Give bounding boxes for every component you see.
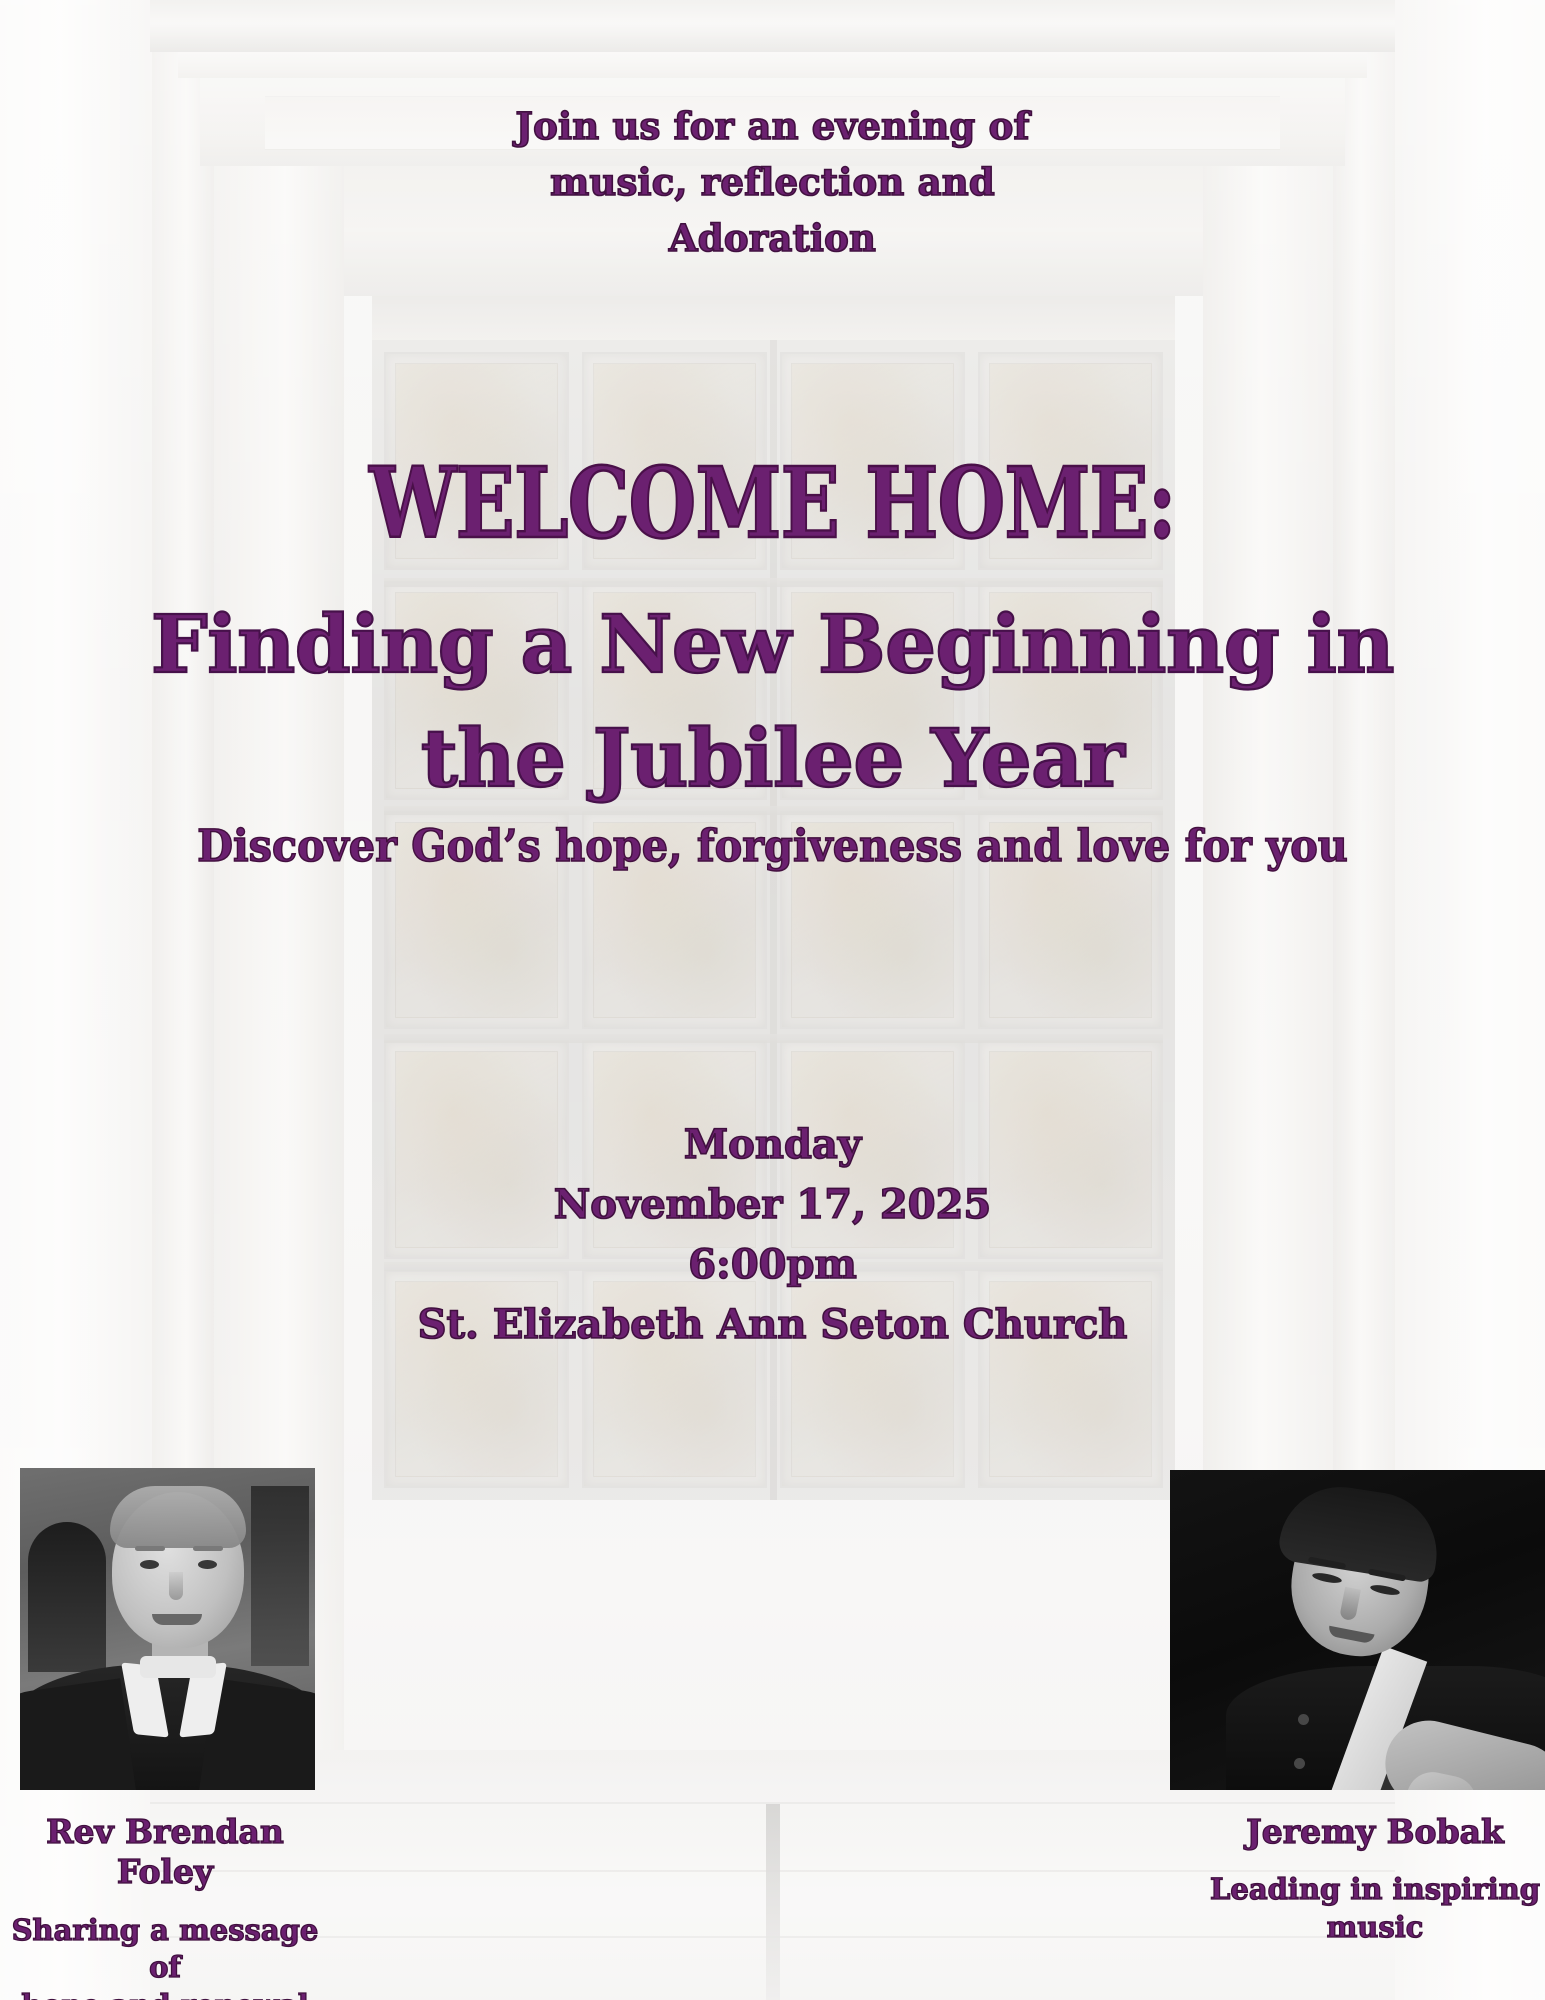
shirt-button	[1294, 1758, 1305, 1769]
eye-left	[140, 1560, 159, 1569]
arch-shape-inner	[28, 1522, 106, 1672]
event-poster: Join us for an evening of music, reflect…	[0, 0, 1545, 2000]
eyebrow-right	[193, 1546, 223, 1551]
window-shape	[251, 1486, 309, 1666]
page-subtitle: Finding a New Beginning in the Jubilee Y…	[0, 588, 1545, 815]
nose	[169, 1572, 183, 1600]
speaker-caption-right: Jeremy Bobak Leading in inspiring music	[1205, 1793, 1545, 1966]
speaker-photo-jeremy-bobak	[1170, 1470, 1545, 1790]
speaker-caption-left: Rev Brendan Foley Sharing a message of h…	[0, 1793, 330, 2000]
page-title: WELCOME HOME:	[155, 455, 1391, 552]
speaker-role: Sharing a message of hope and renewal	[0, 1912, 330, 2000]
tagline-text: Discover God’s hope, forgiveness and lov…	[46, 822, 1498, 872]
speaker-photo-rev-brendan-foley	[20, 1468, 315, 1790]
mouth	[152, 1614, 202, 1625]
speaker-name: Jeremy Bobak	[1205, 1812, 1545, 1852]
shoulder-left	[20, 1678, 138, 1790]
eye-right	[198, 1560, 217, 1569]
kicker-text: Join us for an evening of music, reflect…	[0, 98, 1545, 267]
eyebrow-left	[135, 1546, 165, 1551]
event-details: Monday November 17, 2025 6:00pm St. Eliz…	[0, 1115, 1545, 1355]
speaker-name: Rev Brendan Foley	[0, 1812, 330, 1893]
speaker-role: Leading in inspiring music	[1205, 1871, 1545, 1946]
hair	[110, 1486, 246, 1548]
shirt-button	[1298, 1714, 1309, 1725]
clerical-collar-band	[140, 1656, 216, 1678]
